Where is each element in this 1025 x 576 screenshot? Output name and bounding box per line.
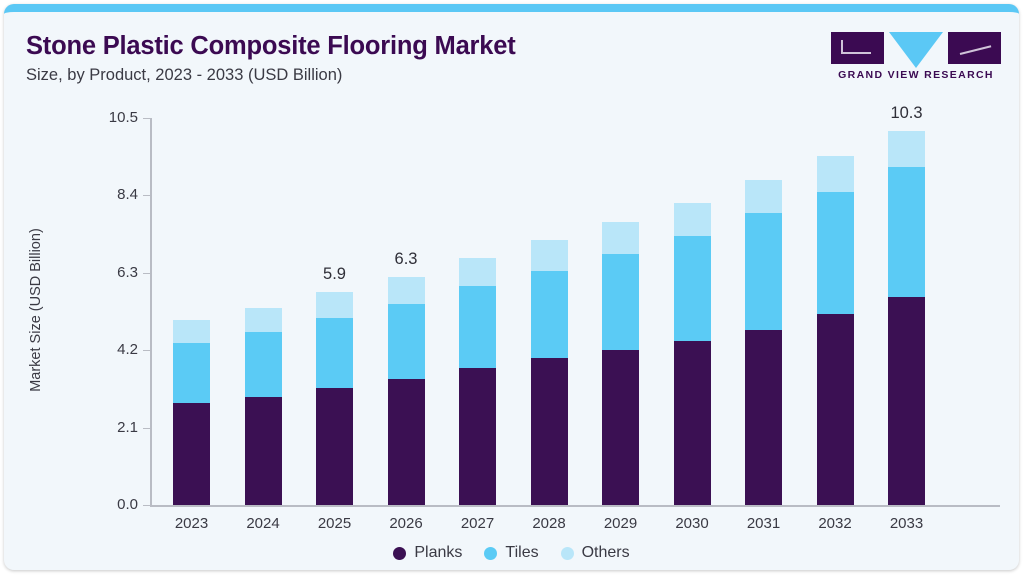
y-axis-tick-mark xyxy=(143,273,150,274)
bar-segment-tiles[interactable] xyxy=(245,332,282,397)
bar-segment-others[interactable] xyxy=(388,277,425,304)
y-axis-tick-mark xyxy=(143,195,150,196)
x-axis-tick-label: 2028 xyxy=(509,515,589,532)
bar-segment-tiles[interactable] xyxy=(817,192,854,315)
x-axis-tick-label: 2023 xyxy=(152,515,232,532)
legend-swatch-icon xyxy=(561,547,574,560)
bar-segment-tiles[interactable] xyxy=(888,167,925,297)
y-axis-tick-mark xyxy=(143,350,150,351)
x-axis-tick-label: 2031 xyxy=(724,515,804,532)
bar-segment-others[interactable] xyxy=(531,240,568,270)
bar-segment-tiles[interactable] xyxy=(602,254,639,351)
x-axis-tick-label: 2025 xyxy=(295,515,375,532)
y-axis-tick-label: 4.2 xyxy=(84,341,138,358)
legend-item-others[interactable]: Others xyxy=(561,544,630,562)
chart-plot-area: Market Size (USD Billion) 0.02.14.26.38.… xyxy=(4,12,1019,570)
bar-segment-tiles[interactable] xyxy=(173,343,210,403)
bar-value-label: 5.9 xyxy=(295,265,375,284)
bar-segment-others[interactable] xyxy=(173,320,210,343)
x-axis-tick-label: 2032 xyxy=(795,515,875,532)
bar-segment-others[interactable] xyxy=(888,131,925,167)
bar-segment-planks[interactable] xyxy=(459,368,496,505)
legend-label: Others xyxy=(582,544,630,562)
x-axis-tick-label: 2029 xyxy=(581,515,661,532)
bar-segment-planks[interactable] xyxy=(817,314,854,505)
x-axis-tick-label: 2033 xyxy=(867,515,947,532)
y-axis-tick-label: 8.4 xyxy=(84,186,138,203)
bar-value-label: 10.3 xyxy=(867,104,947,123)
bar-segment-others[interactable] xyxy=(817,156,854,191)
bar-segment-planks[interactable] xyxy=(531,358,568,505)
bar-segment-others[interactable] xyxy=(602,222,639,253)
bar-segment-planks[interactable] xyxy=(745,330,782,505)
x-axis-tick-label: 2024 xyxy=(223,515,303,532)
y-axis-title: Market Size (USD Billion) xyxy=(28,160,44,460)
legend-label: Tiles xyxy=(505,544,538,562)
y-axis-tick-mark xyxy=(143,505,150,506)
y-axis-tick-label: 10.5 xyxy=(84,109,138,126)
chart-card: Stone Plastic Composite Flooring Market … xyxy=(4,4,1019,570)
bar-segment-others[interactable] xyxy=(674,203,711,236)
bar-segment-planks[interactable] xyxy=(173,403,210,505)
bar-segment-tiles[interactable] xyxy=(531,271,568,358)
bar-segment-planks[interactable] xyxy=(674,341,711,505)
bar-segment-planks[interactable] xyxy=(316,388,353,505)
bar-segment-tiles[interactable] xyxy=(388,304,425,380)
bar-segment-others[interactable] xyxy=(245,308,282,332)
x-axis-tick-label: 2030 xyxy=(652,515,732,532)
legend-swatch-icon xyxy=(484,547,497,560)
x-axis-tick-label: 2027 xyxy=(438,515,518,532)
bar-segment-tiles[interactable] xyxy=(745,213,782,330)
y-axis-tick-label: 0.0 xyxy=(84,496,138,513)
bar-segment-others[interactable] xyxy=(316,292,353,317)
legend-item-planks[interactable]: Planks xyxy=(393,544,462,562)
bar-segment-planks[interactable] xyxy=(888,297,925,505)
y-axis-tick-label: 2.1 xyxy=(84,419,138,436)
bar-segment-planks[interactable] xyxy=(388,379,425,505)
bar-segment-planks[interactable] xyxy=(245,397,282,505)
legend-swatch-icon xyxy=(393,547,406,560)
x-axis-tick-label: 2026 xyxy=(366,515,446,532)
legend-item-tiles[interactable]: Tiles xyxy=(484,544,538,562)
bar-segment-tiles[interactable] xyxy=(674,236,711,341)
x-axis-line xyxy=(150,505,1000,507)
legend-label: Planks xyxy=(414,544,462,562)
y-axis-tick-label: 6.3 xyxy=(84,264,138,281)
y-axis-tick-mark xyxy=(143,118,150,119)
bar-value-label: 6.3 xyxy=(366,250,446,269)
y-axis-tick-mark xyxy=(143,428,150,429)
bar-segment-planks[interactable] xyxy=(602,350,639,505)
bar-segment-tiles[interactable] xyxy=(459,286,496,368)
bar-segment-tiles[interactable] xyxy=(316,318,353,388)
bar-segment-others[interactable] xyxy=(745,180,782,213)
chart-legend: PlanksTilesOthers xyxy=(4,544,1019,562)
y-axis-line xyxy=(150,118,152,505)
screenshot-root: Stone Plastic Composite Flooring Market … xyxy=(0,0,1025,576)
bar-segment-others[interactable] xyxy=(459,258,496,287)
